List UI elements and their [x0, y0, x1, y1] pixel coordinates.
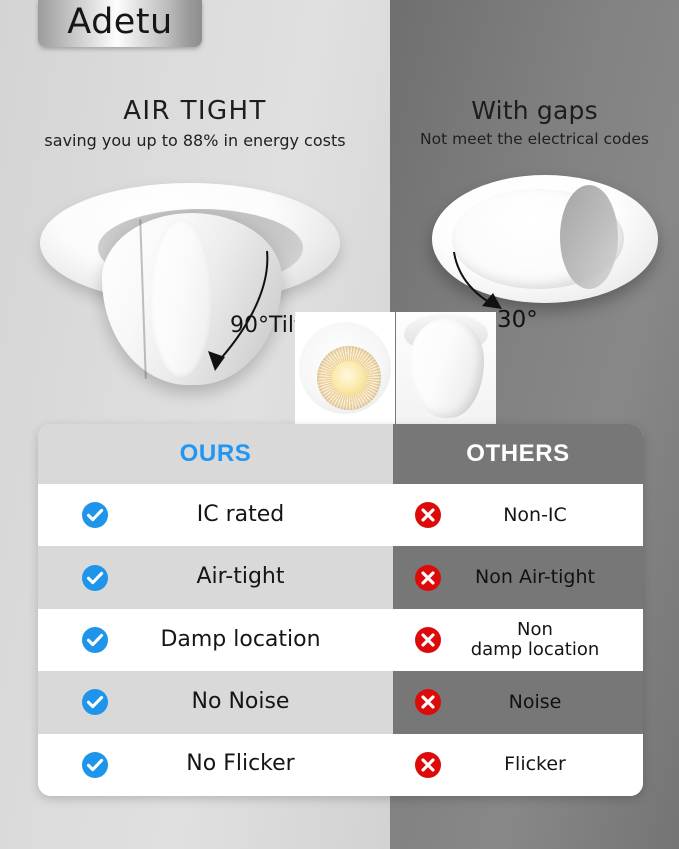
cell-others: Non damp location [393, 609, 643, 671]
column-header-ours-label: OURS [180, 440, 252, 468]
comparison-table-header: OURS OTHERS [38, 424, 643, 484]
cob-housing [299, 322, 391, 414]
cell-others-label: Non-IC [441, 505, 643, 526]
cell-others: Non-IC [393, 484, 643, 546]
comparison-table: OURS OTHERS IC rated Non-IC Air-tight [38, 424, 643, 796]
cell-ours: No Flicker [38, 734, 393, 796]
lit-cob-thumbnail [295, 312, 395, 424]
cell-ours: Air-tight [38, 546, 393, 608]
left-panel-subtitle: saving you up to 88% in energy costs [0, 131, 390, 150]
gimbal-head [102, 213, 282, 385]
cell-others-label-line1: Non [517, 619, 553, 640]
gapped-trim-ring [432, 175, 658, 303]
column-header-others-label: OTHERS [466, 440, 570, 468]
table-row: IC rated Non-IC [38, 484, 643, 546]
cell-others-label: Noise [441, 692, 643, 713]
check-circle-icon [82, 565, 108, 591]
cross-circle-icon [415, 689, 441, 715]
cell-ours-label: No Flicker [108, 752, 393, 777]
cell-others: Flicker [393, 734, 643, 796]
left-panel-heading-group: AIR TIGHT saving you up to 88% in energy… [0, 96, 390, 150]
cob-emitter [332, 361, 366, 395]
right-panel-subtitle: Not meet the electrical codes [390, 130, 679, 148]
cross-circle-icon [415, 752, 441, 778]
table-row: No Noise Noise [38, 671, 643, 733]
cell-others-label: Flicker [441, 754, 643, 775]
left-tilt-angle-label: 90°Tilt [230, 313, 303, 338]
cell-ours-label: Damp location [108, 628, 393, 653]
cross-circle-icon [415, 627, 441, 653]
cell-others-label: Non Air-tight [441, 567, 643, 588]
brand-logo: Adetu [38, 0, 202, 47]
column-header-ours: OURS [38, 424, 393, 484]
check-circle-icon [82, 502, 108, 528]
table-row: Damp location Non damp location [38, 609, 643, 671]
check-circle-icon [82, 689, 108, 715]
cell-ours-label: IC rated [108, 503, 393, 528]
cell-ours: IC rated [38, 484, 393, 546]
visible-gap [560, 185, 618, 289]
right-panel-title: With gaps [390, 96, 679, 125]
brand-logo-text: Adetu [67, 5, 172, 43]
cell-others-label-line2: damp location [471, 639, 600, 660]
tilted-fixture-thumbnail [396, 312, 496, 424]
table-row: Air-tight Non Air-tight [38, 546, 643, 608]
right-panel-heading-group: With gaps Not meet the electrical codes [390, 96, 679, 148]
cell-ours-label: No Noise [108, 690, 393, 715]
thumbnail-lens-head [410, 318, 484, 418]
cell-ours: No Noise [38, 671, 393, 733]
cell-ours: Damp location [38, 609, 393, 671]
cell-others: Non Air-tight [393, 546, 643, 608]
cell-ours-label: Air-tight [108, 565, 393, 590]
left-panel-title: AIR TIGHT [0, 96, 390, 126]
check-circle-icon [82, 752, 108, 778]
cross-circle-icon [415, 502, 441, 528]
right-tilt-angle-label: 30° [497, 307, 538, 333]
column-header-others: OTHERS [393, 424, 643, 484]
cell-others: Noise [393, 671, 643, 733]
cell-others-label: Non damp location [441, 620, 643, 660]
table-row: No Flicker Flicker [38, 734, 643, 796]
check-circle-icon [82, 627, 108, 653]
cross-circle-icon [415, 565, 441, 591]
